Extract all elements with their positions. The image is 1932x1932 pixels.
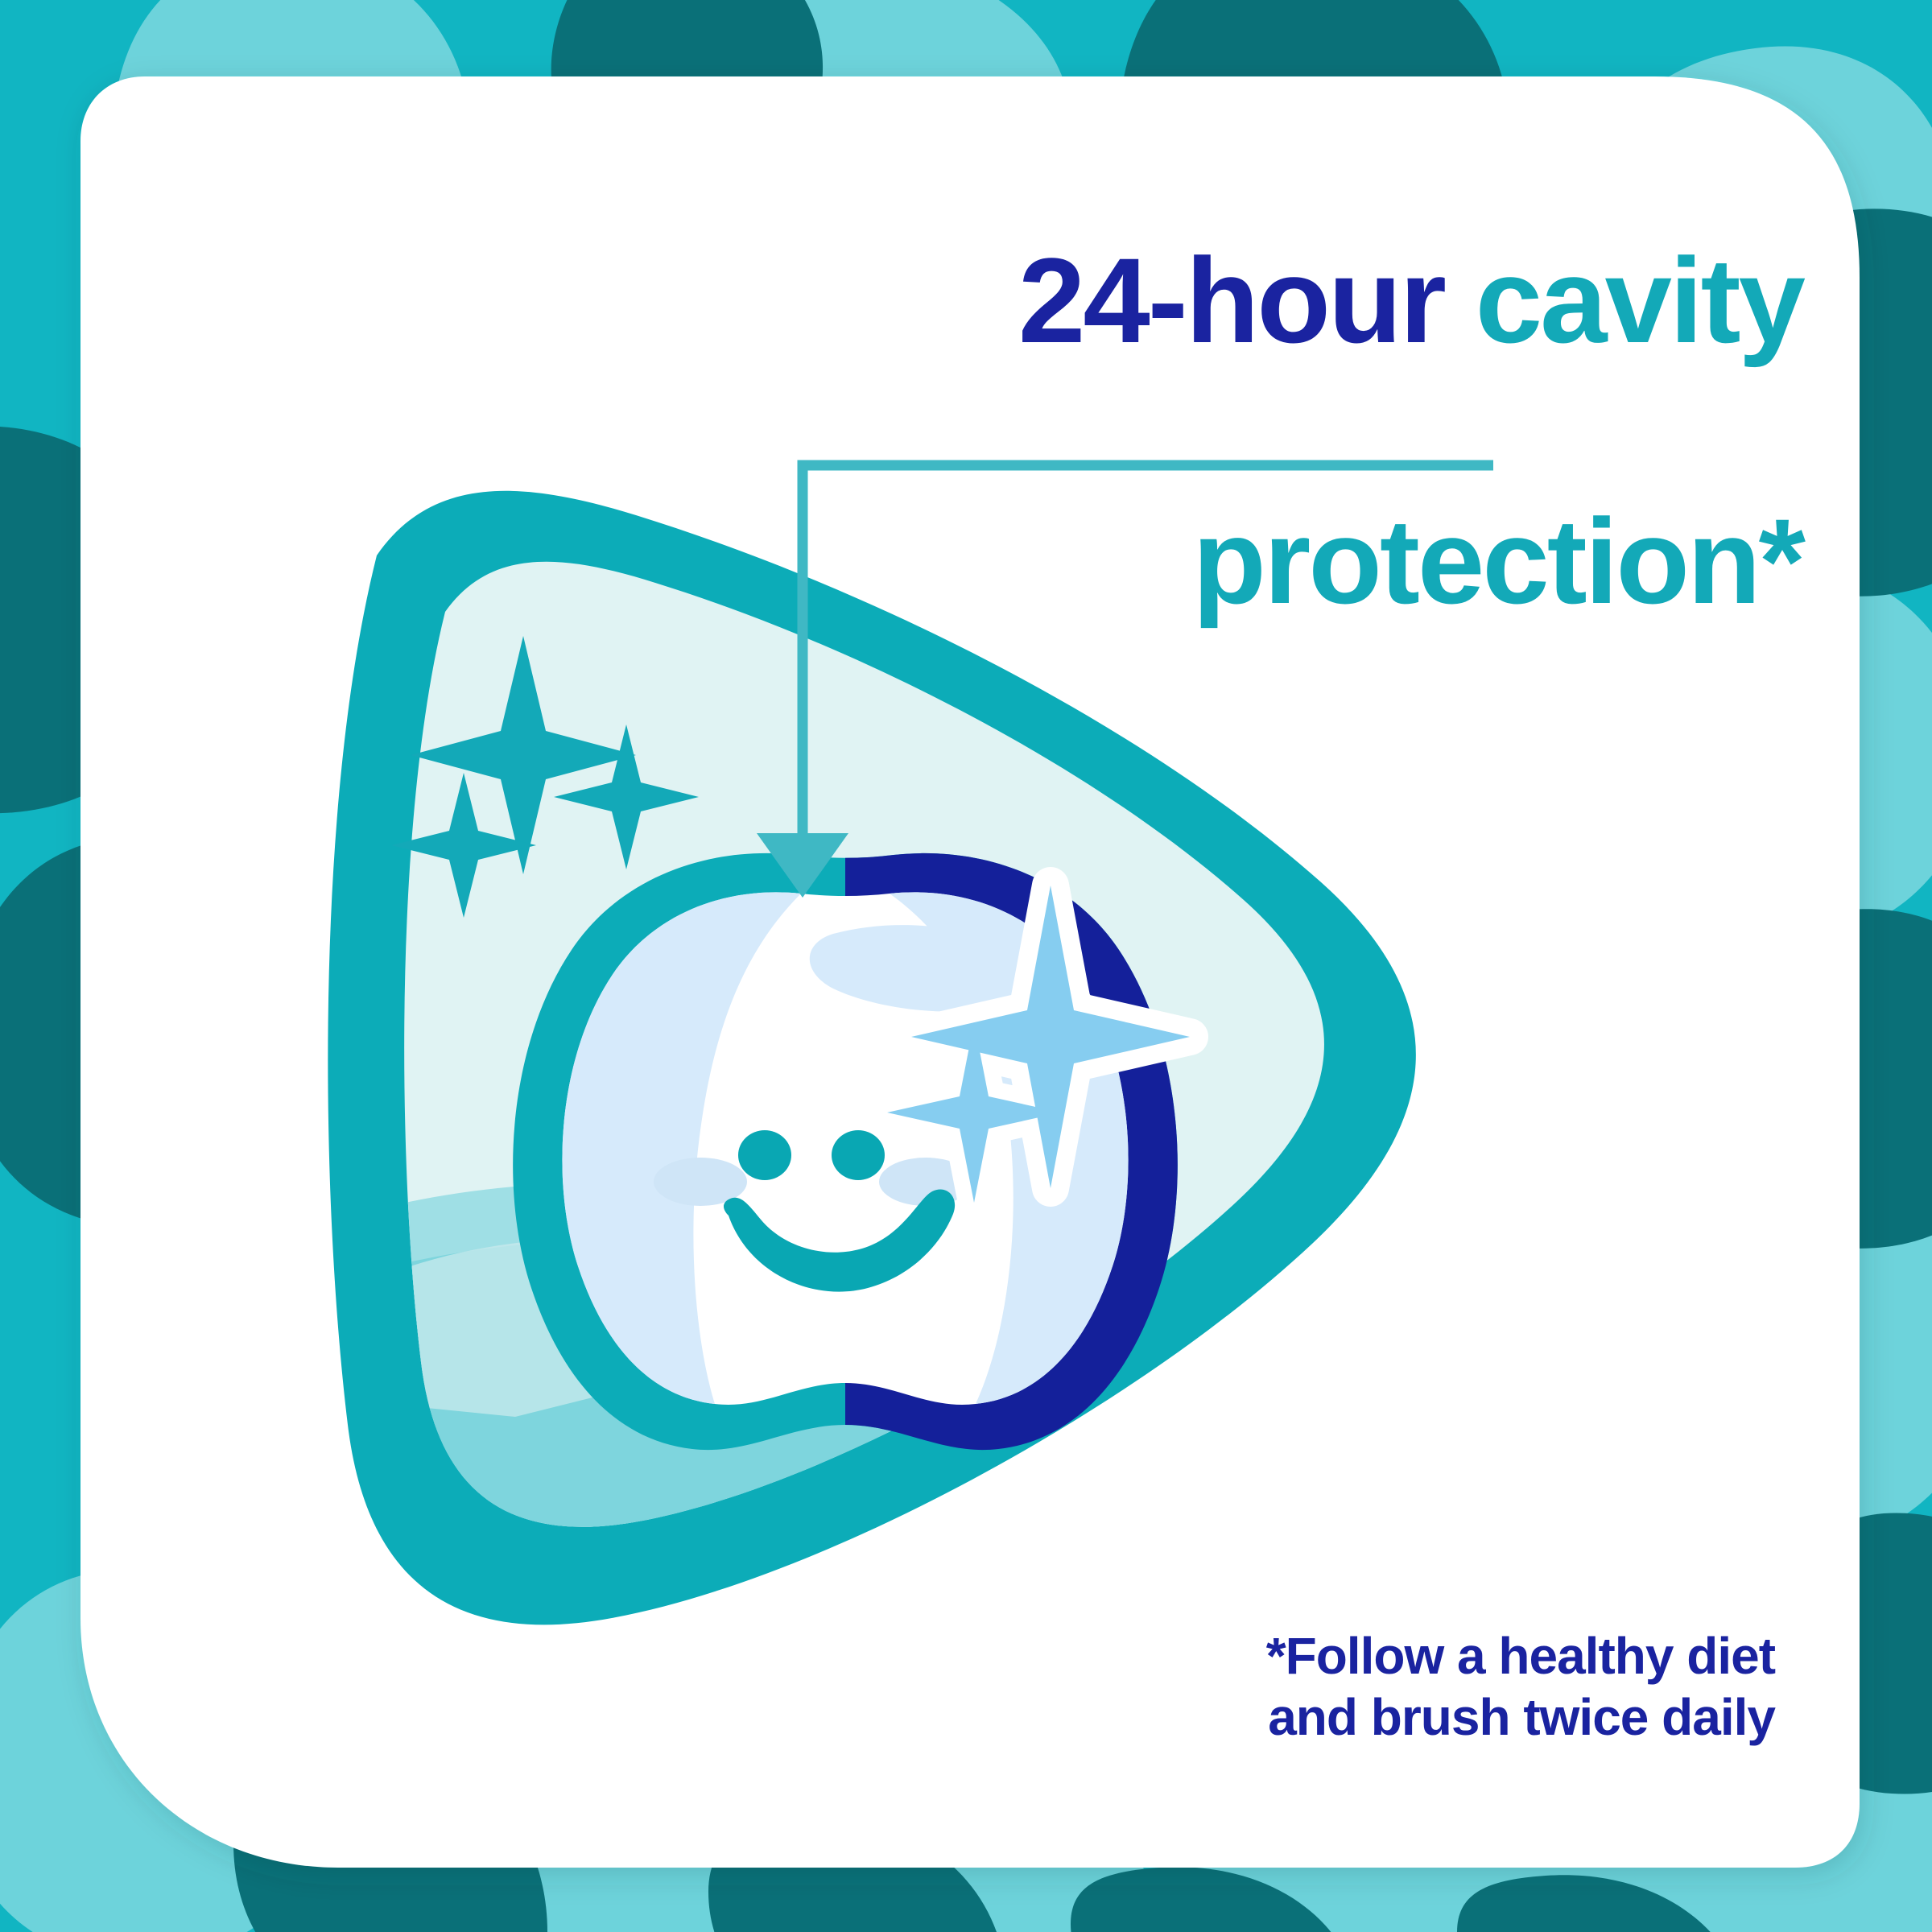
ad-creative: 24-hour cavity protection* *Follow a hea… [0,0,1932,1932]
headline-cavity: cavity [1476,233,1803,368]
headline-line-1: 24-hour cavity [419,235,1803,365]
page-title: 24-hour cavity protection* [419,105,1803,757]
eye-right [832,1130,885,1180]
headline-protection: protection* [419,496,1803,626]
footnote-line-2: and brush twice daily [809,1687,1775,1748]
headline-24-hour: 24-hour [1018,233,1444,368]
footnote-disclaimer: *Follow a healthy diet and brush twice d… [809,1626,1775,1748]
footnote-line-1: *Follow a healthy diet [809,1626,1775,1687]
eye-left [738,1130,791,1180]
smiling-tooth-character [513,853,1190,1450]
